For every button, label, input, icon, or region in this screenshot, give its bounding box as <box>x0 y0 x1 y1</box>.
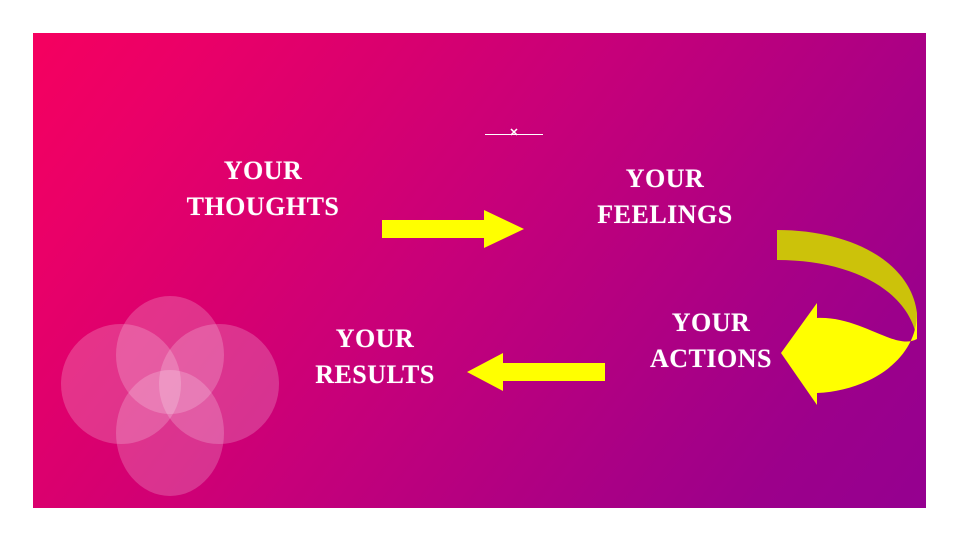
slide-canvas[interactable]: ✕ YOUR THOUGHTS YOUR FEELINGS YOUR ACTIO… <box>33 33 926 508</box>
circle-top <box>116 296 224 414</box>
node-label-feelings: YOUR FEELINGS <box>545 161 785 233</box>
node-label-results: YOUR RESULTS <box>255 321 495 393</box>
circle-left <box>61 324 181 444</box>
circle-bottom <box>116 370 224 496</box>
node-label-actions: YOUR ACTIONS <box>591 305 831 377</box>
screenshot-canvas: ✕ YOUR THOUGHTS YOUR FEELINGS YOUR ACTIO… <box>0 0 960 540</box>
close-x-icon: ✕ <box>507 126 521 140</box>
arrow-thoughts-to-feelings <box>380 208 526 250</box>
overlapping-circles-motif <box>61 296 279 496</box>
node-label-thoughts: YOUR THOUGHTS <box>143 153 383 225</box>
divider-rule: ✕ <box>485 128 543 142</box>
